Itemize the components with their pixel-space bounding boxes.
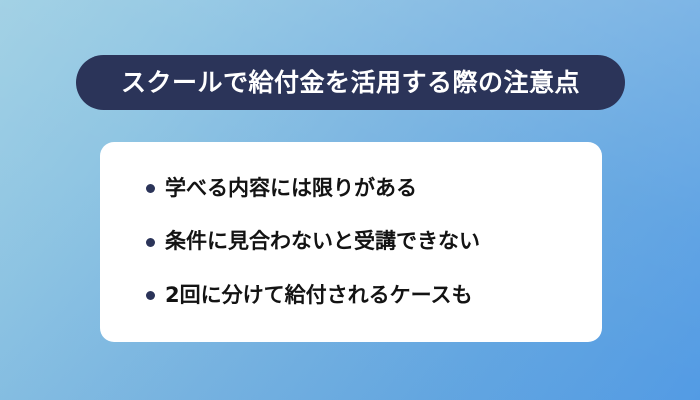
page-title: スクールで給付金を活用する際の注意点 — [121, 70, 580, 95]
bullet-dot-icon — [146, 238, 155, 247]
slide-canvas: スクールで給付金を活用する際の注意点 学べる内容には限りがある 条件に見合わない… — [0, 0, 700, 400]
list-item: 学べる内容には限りがある — [146, 176, 602, 201]
list-item-label: 2回に分けて給付されるケースも — [165, 283, 473, 308]
list-item: 条件に見合わないと受講できない — [146, 229, 602, 254]
bullet-dot-icon — [146, 291, 155, 300]
content-card: 学べる内容には限りがある 条件に見合わないと受講できない 2回に分けて給付される… — [100, 142, 602, 342]
title-pill: スクールで給付金を活用する際の注意点 — [76, 55, 625, 110]
list-item-label: 学べる内容には限りがある — [165, 176, 417, 201]
list-item-label: 条件に見合わないと受講できない — [165, 229, 480, 254]
bullet-list: 学べる内容には限りがある 条件に見合わないと受講できない 2回に分けて給付される… — [146, 176, 602, 308]
list-item: 2回に分けて給付されるケースも — [146, 283, 602, 308]
bullet-dot-icon — [146, 184, 155, 193]
